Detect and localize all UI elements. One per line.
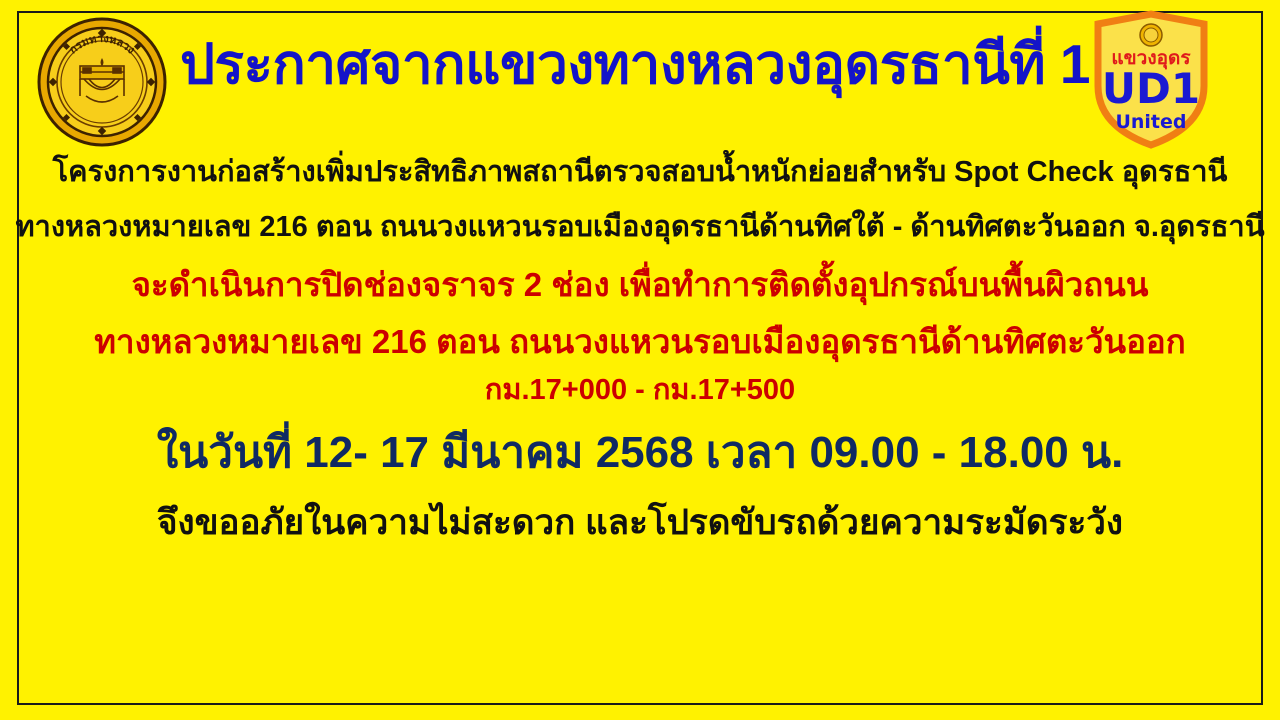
affected-route-line: ทางหลวงหมายเลข 216 ตอน ถนนวงแหวนรอบเมือง… — [0, 325, 1280, 358]
announcement-poster: กรมทางหลวง — [0, 0, 1280, 720]
udon-united-shield-logo: แขวงอุดร UD1 United — [1086, 8, 1216, 150]
closing-apology-line: จึงขออภัยในความไม่สะดวก และโปรดขับรถด้วย… — [0, 505, 1280, 540]
route-description-line: ทางหลวงหมายเลข 216 ตอน ถนนวงแหวนรอบเมือง… — [0, 213, 1280, 242]
department-of-highways-seal: กรมทางหลวง — [36, 16, 168, 148]
schedule-date-time: ในวันที่ 12- 17 มีนาคม 2568 เวลา 09.00 -… — [0, 431, 1280, 475]
announcement-body: โครงการงานก่อสร้างเพิ่มประสิทธิภาพสถานีต… — [0, 158, 1280, 540]
svg-text:UD1: UD1 — [1102, 64, 1200, 113]
project-description-line: โครงการงานก่อสร้างเพิ่มประสิทธิภาพสถานีต… — [0, 158, 1280, 187]
page-title: ประกาศจากแขวงทางหลวงอุดรธานีที่ 1 — [180, 36, 1080, 94]
poster-header: กรมทางหลวง — [0, 0, 1280, 150]
svg-text:United: United — [1115, 111, 1186, 133]
lane-closure-warning-line: จะดำเนินการปิดช่องจราจร 2 ช่อง เพื่อทำกา… — [0, 268, 1280, 301]
kilometer-range: กม.17+000 - กม.17+500 — [0, 376, 1280, 405]
